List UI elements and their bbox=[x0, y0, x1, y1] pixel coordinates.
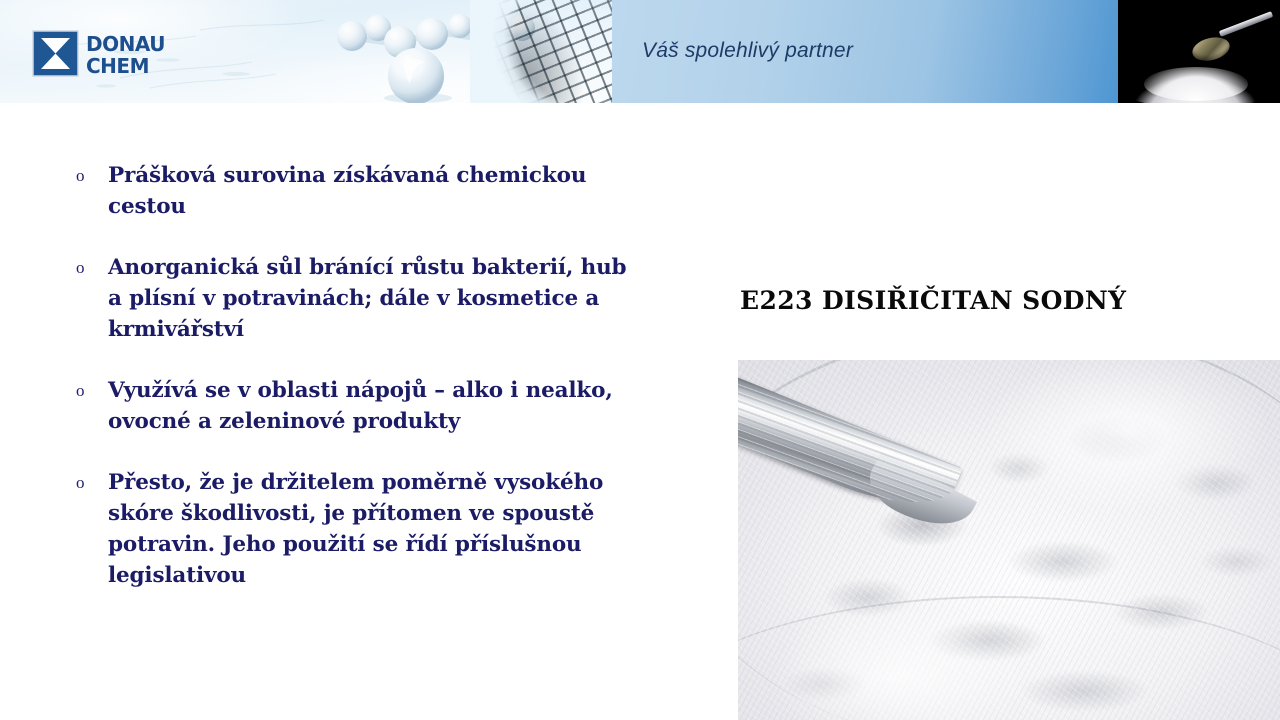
list-item: o Využívá se v oblasti nápojů – alko i n… bbox=[72, 375, 632, 437]
list-item: o Anorganická sůl bránící růstu bakterií… bbox=[72, 252, 632, 345]
sodium-metabisulfite-powder-photo bbox=[738, 360, 1280, 720]
list-item: o Prášková surovina získávaná chemickou … bbox=[72, 160, 632, 222]
header-left-panel: DONAU CHEM bbox=[0, 0, 612, 103]
bullet-marker-icon: o bbox=[72, 467, 108, 498]
bullet-marker-icon: o bbox=[72, 160, 108, 191]
glass-building-circle-photo bbox=[486, 0, 612, 103]
svg-text:DONAU: DONAU bbox=[86, 32, 165, 56]
bullet-marker-icon: o bbox=[72, 252, 108, 283]
bullet-list: o Prášková surovina získávaná chemickou … bbox=[72, 160, 632, 591]
list-item: o Přesto, že je držitelem poměrně vysoké… bbox=[72, 467, 632, 591]
bullet-marker-icon: o bbox=[72, 375, 108, 406]
header-right-panel: Váš spolehlivý partner bbox=[612, 0, 1118, 103]
powder-scoop-photo-thumbnail bbox=[1118, 0, 1280, 103]
bullet-text: Přesto, že je držitelem poměrně vysokého… bbox=[108, 467, 632, 591]
scoop-handle bbox=[1219, 11, 1273, 37]
header-tagline: Váš spolehlivý partner bbox=[642, 39, 853, 63]
svg-text:CHEM: CHEM bbox=[86, 54, 149, 78]
bullet-text: Využívá se v oblasti nápojů – alko i nea… bbox=[108, 375, 632, 437]
slide-header-band: DONAU CHEM Váš spolehlivý partner bbox=[0, 0, 1280, 103]
bullet-text: Prášková surovina získávaná chemickou ce… bbox=[108, 160, 632, 222]
donau-chem-hourglass-logo: DONAU CHEM bbox=[32, 28, 172, 80]
bullet-text: Anorganická sůl bránící růstu bakterií, … bbox=[108, 252, 632, 345]
page-title: E223 DISIŘIČITAN SODNÝ bbox=[740, 286, 1126, 315]
slide-canvas: DONAU CHEM Váš spolehlivý partner o Práš… bbox=[0, 0, 1280, 720]
